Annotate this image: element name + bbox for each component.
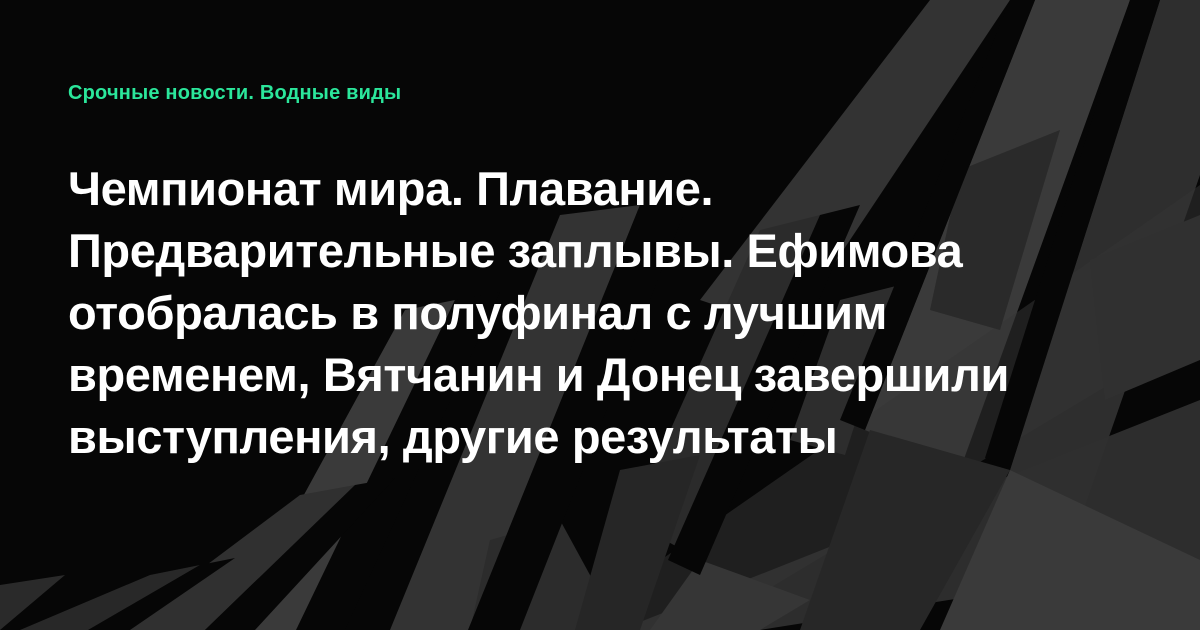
headline-line-5: выступления, другие результаты xyxy=(68,406,1113,468)
news-share-card: Срочные новости. Водные виды Чемпионат м… xyxy=(0,0,1200,630)
headline-line-1: Чемпионат мира. Плавание. xyxy=(68,158,1113,220)
headline-line-2: Предварительные заплывы. Ефимова xyxy=(68,220,1113,282)
headline-line-3: отобралась в полуфинал с лучшим xyxy=(68,282,1113,344)
page-title: Чемпионат мира. Плавание. Предварительны… xyxy=(68,158,1113,468)
card-content: Срочные новости. Водные виды Чемпионат м… xyxy=(0,0,1200,630)
kicker-label: Срочные новости. Водные виды xyxy=(68,80,401,106)
headline-line-4: временем, Вятчанин и Донец завершили xyxy=(68,344,1113,406)
